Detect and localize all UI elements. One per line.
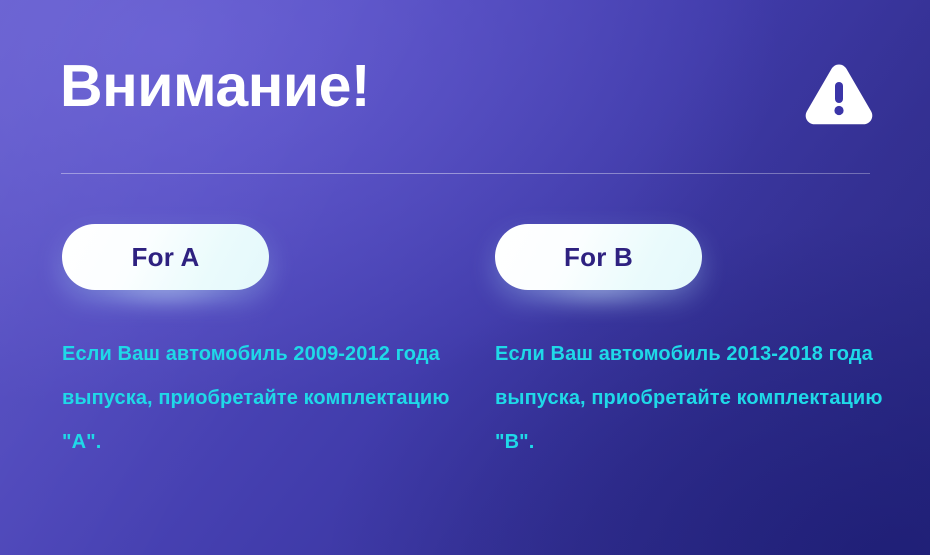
warning-triangle-icon [803, 62, 875, 126]
attention-banner: Внимание! For A Если Ваш автомобиль 2009… [0, 0, 930, 555]
option-a-description: Если Ваш автомобиль 2009-2012 года выпус… [62, 332, 452, 464]
for-a-button-label: For A [132, 244, 200, 270]
header-divider [61, 173, 870, 174]
page-title: Внимание! [60, 57, 370, 116]
for-b-button-wrap: For B [495, 224, 702, 290]
option-column-b: For B Если Ваш автомобиль 2013-2018 года… [495, 224, 702, 290]
option-b-description: Если Ваш автомобиль 2013-2018 года выпус… [495, 332, 885, 464]
option-column-a: For A Если Ваш автомобиль 2009-2012 года… [62, 224, 269, 290]
for-a-button[interactable]: For A [62, 224, 269, 290]
for-b-button[interactable]: For B [495, 224, 702, 290]
for-b-button-label: For B [564, 244, 633, 270]
for-a-button-wrap: For A [62, 224, 269, 290]
